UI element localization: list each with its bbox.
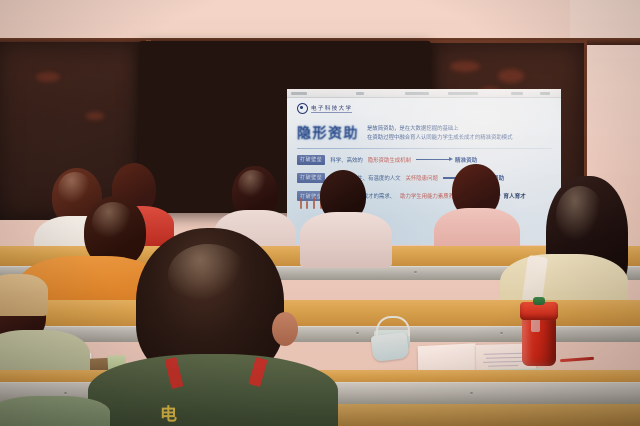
face-mask <box>371 332 410 362</box>
slide-row: 打破壁垒 科学、高效的 隐形资助生成机制 精准资助 <box>297 155 552 165</box>
slide-university-logo: 电子科技大学 <box>297 103 552 114</box>
slide-row-highlight: 关怀隐患问题 <box>406 174 438 182</box>
shirt-logo: 电科 <box>160 400 182 426</box>
slide-row-highlight: 隐形资助生成机制 <box>368 156 411 164</box>
slide-subtitle: 是故简资助，是在大数据挖掘的基础上 在资助过程中融合育人认同能力学生成长成才的精… <box>367 123 513 143</box>
arrow-right-icon <box>416 159 450 160</box>
slide-row-highlight: 助力学生用能力素质养成 <box>400 192 459 200</box>
slide-divider <box>297 148 552 149</box>
university-seal-icon <box>297 103 308 114</box>
university-name: 电子科技大学 <box>311 104 352 114</box>
classroom-photo: 电子科技大学 隐形资助 是故简资助，是在大数据挖掘的基础上 在资助过程中融合育人… <box>0 0 640 426</box>
slide-row-result: 育人育才 <box>503 192 525 200</box>
slide-title: 隐形资助 <box>297 123 359 143</box>
slide-row-result: 精准资助 <box>455 156 477 164</box>
red-water-bottle <box>520 300 558 366</box>
foreground-shoulder-left <box>0 396 110 426</box>
slide-header: 隐形资助 是故简资助，是在大数据挖掘的基础上 在资助过程中融合育人认同能力学生成… <box>297 123 552 143</box>
presentation-toolbar <box>287 89 561 98</box>
projector-screen-bezel: 电子科技大学 隐形资助 是故简资助，是在大数据挖掘的基础上 在资助过程中融合育人… <box>139 41 431 213</box>
slide-subtitle-line2: 在资助过程中融合育人认同能力学生成长成才的精准资助模式 <box>367 134 513 143</box>
ear <box>272 312 298 346</box>
slide-row-text: 科学、高效的 <box>330 156 362 164</box>
slide-row-tag: 打破壁垒 <box>297 155 325 165</box>
slide-subtitle-line1: 是故简资助，是在大数据挖掘的基础上 <box>367 125 513 134</box>
slide-row-tag: 打破壁垒 <box>297 173 325 183</box>
